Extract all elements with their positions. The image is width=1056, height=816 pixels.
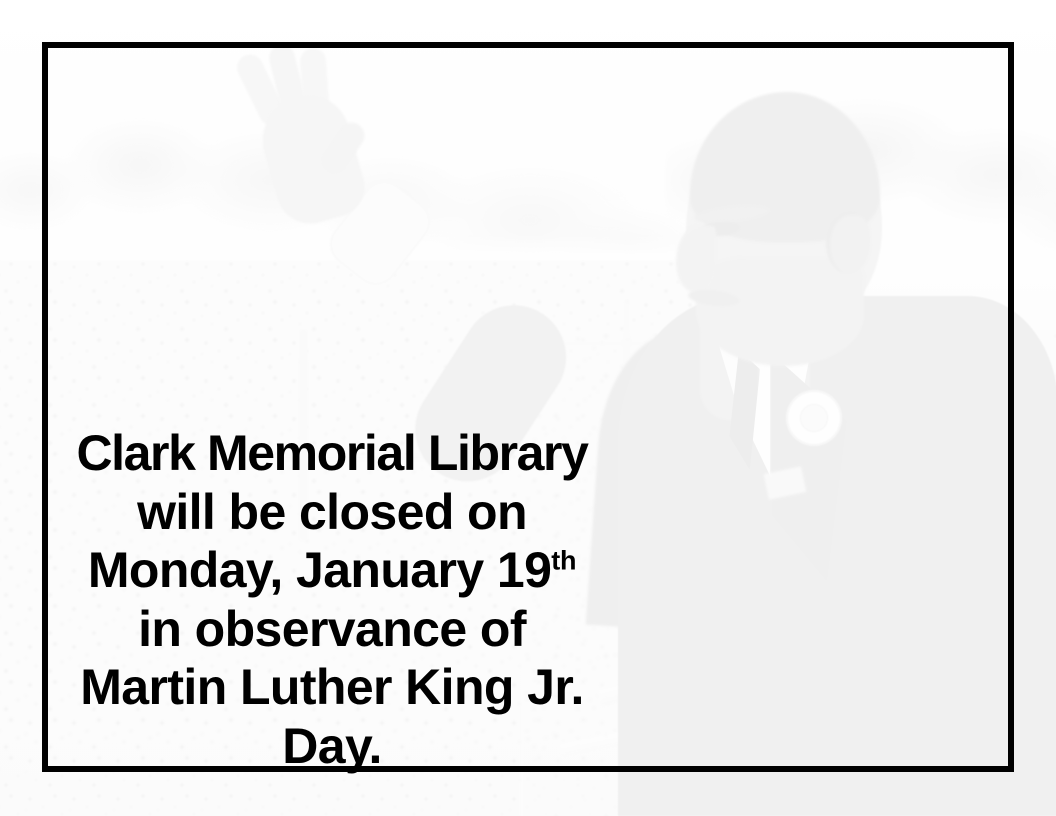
suit-torso xyxy=(618,296,1056,816)
announcement-text-block: Clark Memorial Library will be closed on… xyxy=(52,424,612,775)
ear xyxy=(826,212,870,274)
nose xyxy=(676,226,716,292)
announcement-line-4: in observance of xyxy=(52,600,612,659)
announcement-line-3-text: Monday, January 19 xyxy=(88,542,551,598)
announcement-line-1: Clark Memorial Library xyxy=(52,424,612,483)
announcement-line-6: Day. xyxy=(52,717,612,776)
announcement-line-5: Martin Luther King Jr. xyxy=(52,658,612,717)
ordinal-suffix: th xyxy=(551,545,576,575)
closure-announcement-poster: Clark Memorial Library will be closed on… xyxy=(0,0,1056,816)
announcement-line-2: will be closed on xyxy=(52,483,612,542)
announcement-line-3: Monday, January 19th xyxy=(52,541,612,600)
lapel-button-badge-center xyxy=(800,404,828,432)
